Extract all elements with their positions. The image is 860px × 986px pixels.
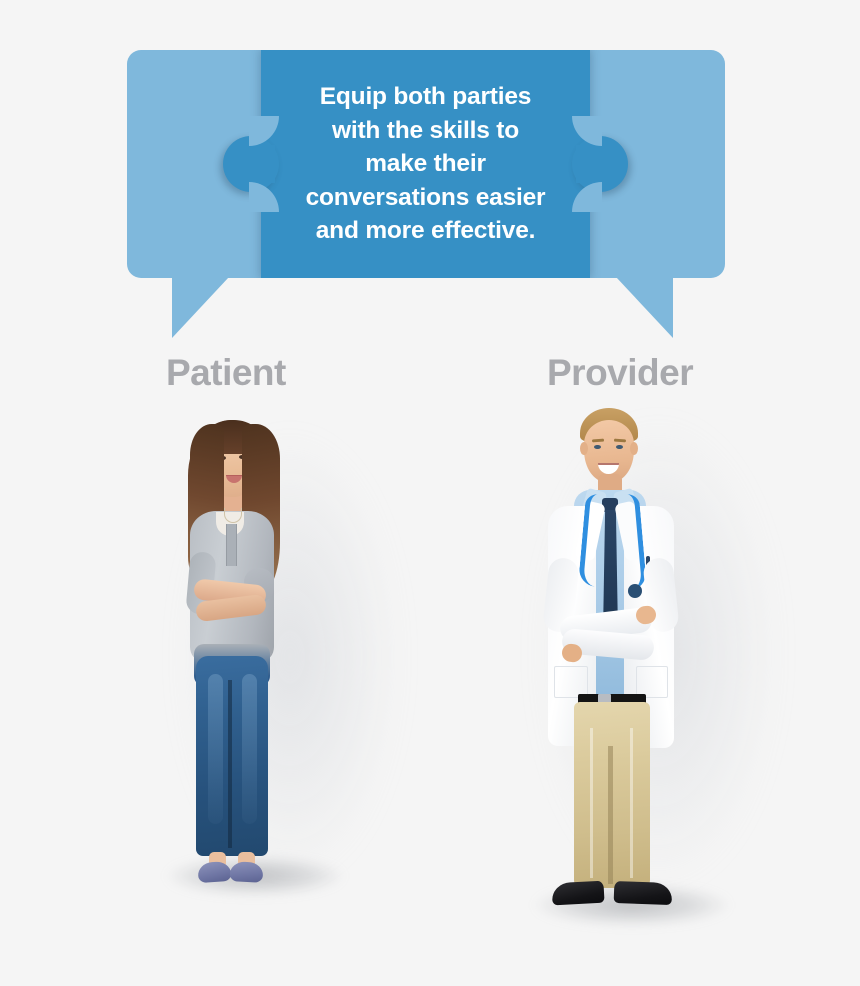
speech-bubble-body: Equip both parties with the skills to ma… [127,50,725,278]
provider-stethoscope-bell-icon [628,584,642,598]
infographic-canvas: Equip both parties with the skills to ma… [0,0,860,986]
patient-jeans [196,656,268,856]
provider-shoe-right [614,881,673,905]
provider-pants-crease-right [630,728,633,878]
provider-ear-left [580,442,588,455]
column-label-provider: Provider [547,352,693,394]
provider-pants-inseam [608,746,613,884]
patient-figure [160,412,340,912]
speech-bubble-message: Equip both parties with the skills to ma… [261,50,590,278]
speech-bubble-tail-patient [172,277,229,338]
patient-jeans-highlight-right [242,674,257,824]
patient-shoe-left [197,861,231,883]
provider-pants-crease-left [590,728,593,878]
column-label-patient: Patient [166,352,286,394]
patient-jeans-highlight-left [208,674,223,824]
provider-ear-right [630,442,638,455]
provider-shoe-left [551,881,604,906]
patient-jeans-inseam [228,680,232,848]
provider-figure [528,398,728,938]
speech-bubble-tail-provider [616,277,673,338]
speech-bubble: Equip both parties with the skills to ma… [127,50,725,278]
patient-top-placket [226,524,237,566]
